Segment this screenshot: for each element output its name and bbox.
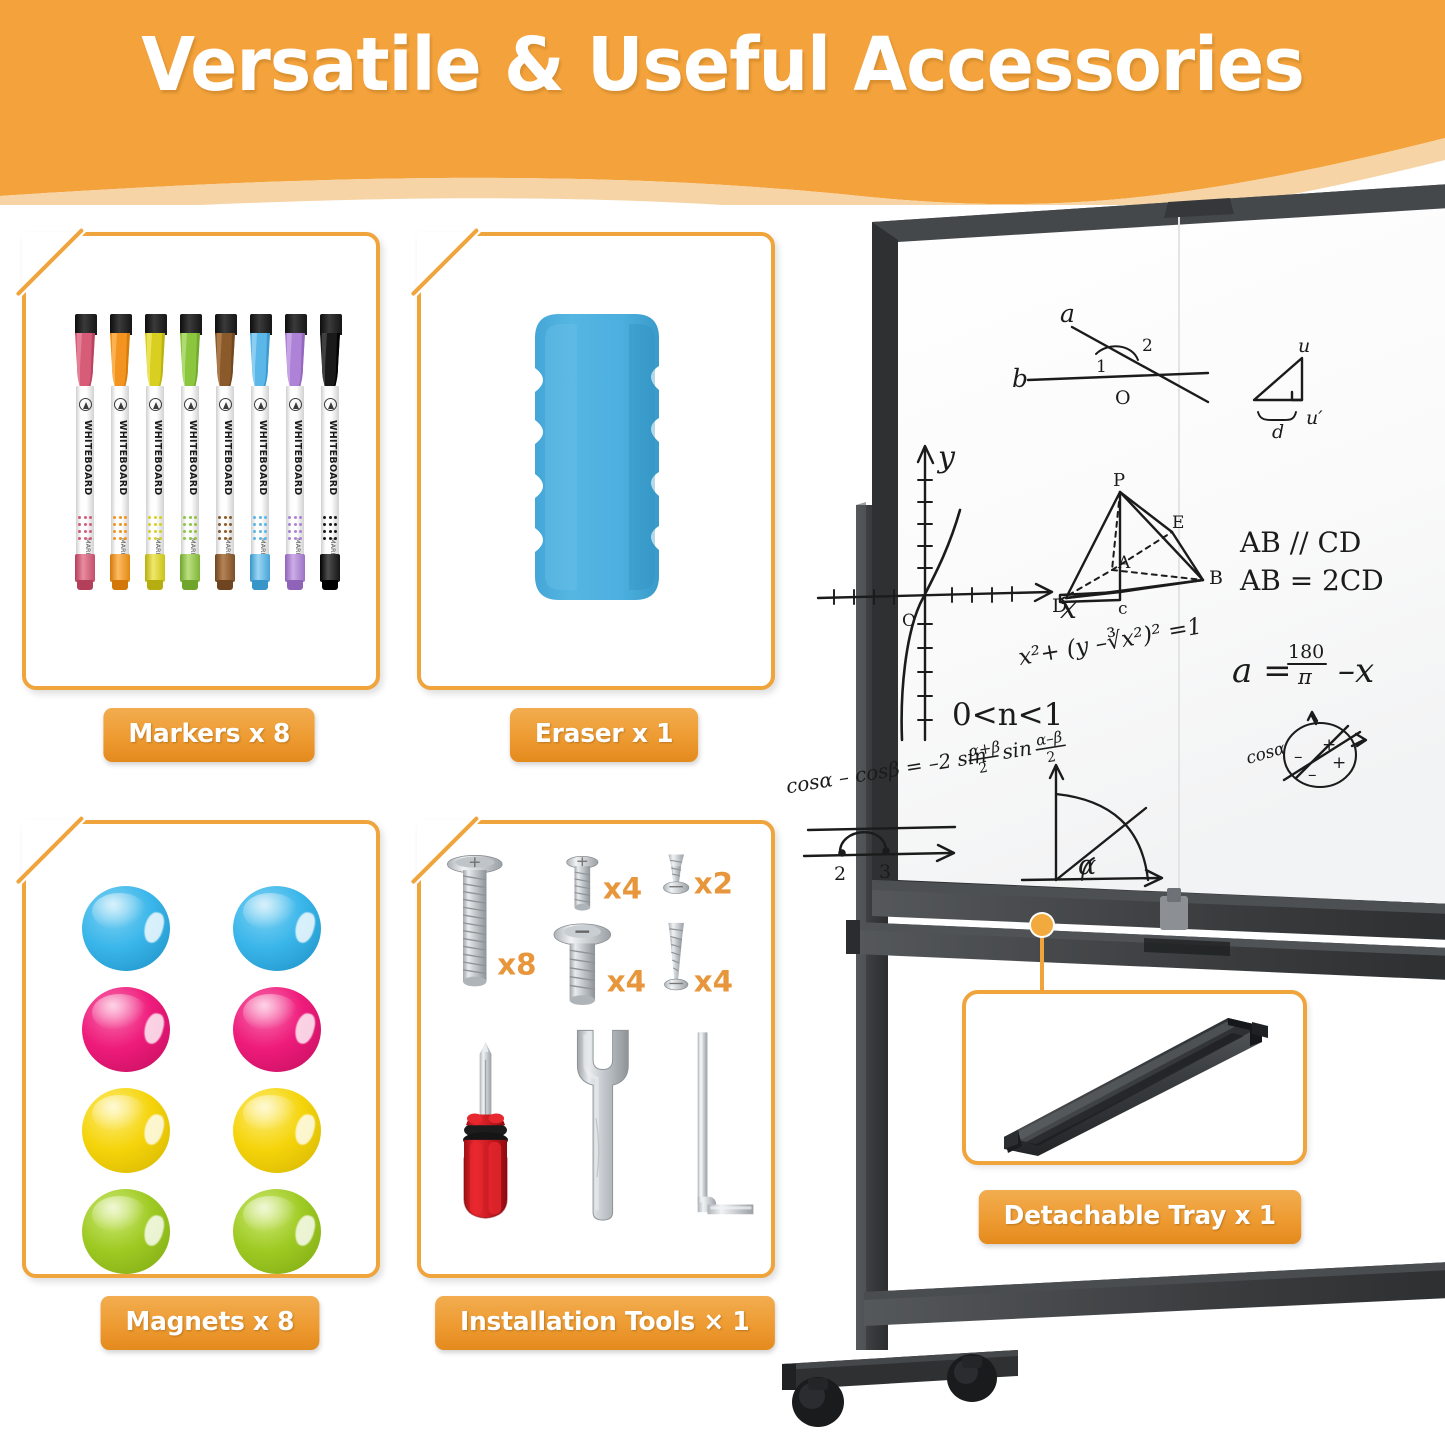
marker-end-cap	[250, 554, 270, 582]
parallel-note-1: AB ∕∕ CD	[1239, 526, 1361, 559]
open-end-wrench-icon	[577, 1030, 628, 1220]
marker-pen-icon: WHITEBOARD MARKER	[72, 314, 344, 594]
marker-end-cap	[110, 554, 130, 582]
marker-tip	[322, 580, 338, 590]
marker-label-body: WHITEBOARD MARKER	[251, 386, 269, 556]
self-tap-screw-icon	[663, 854, 688, 893]
marker-dots	[252, 516, 268, 550]
pink-magnet-1	[82, 987, 170, 1072]
marker-shoulder	[177, 333, 203, 388]
yellow-magnet-1	[82, 1088, 170, 1173]
quadrant-minus-2: –	[1308, 765, 1317, 785]
quadrant-plus-2: +	[1332, 753, 1346, 773]
hex-allen-key-icon	[698, 1032, 754, 1214]
pink-marker: WHITEBOARD MARKER	[72, 314, 98, 594]
marker-tip	[182, 580, 198, 590]
pink-magnet-2	[233, 987, 321, 1072]
orange-marker: WHITEBOARD MARKER	[107, 314, 133, 594]
magnet-dot-icon	[76, 886, 326, 1274]
long-bolt-qty: x8	[497, 948, 536, 982]
marker-dots	[112, 516, 128, 550]
toolbox-icon: x8 x4	[421, 824, 771, 1274]
marker-label-body: WHITEBOARD MARKER	[216, 386, 234, 556]
accessory-cell-markers: WHITEBOARD MARKER	[22, 232, 397, 762]
button-head-bolt-qty: x4	[607, 964, 646, 998]
blue-magnet-2	[233, 886, 321, 971]
marker-dots	[147, 516, 163, 550]
marker-cap	[110, 314, 132, 335]
u-prime-label: u′	[1306, 407, 1323, 429]
caster-wheel-back	[947, 1354, 997, 1402]
marker-label-body: WHITEBOARD MARKER	[321, 386, 339, 556]
marker-label-body: WHITEBOARD MARKER	[286, 386, 304, 556]
mobile-whiteboard: y x O 0<n<1 cosα – cosβ = –2 sin α+β 2 s…	[760, 180, 1445, 1445]
angle-2-label: 2	[1142, 336, 1153, 356]
marker-brand-icon	[79, 398, 92, 411]
axis-y-label: y	[936, 440, 956, 475]
yellow-marker: WHITEBOARD MARKER	[142, 314, 168, 594]
marker-tip	[287, 580, 303, 590]
alpha-symbol: α	[1078, 850, 1096, 881]
marker-dots	[322, 516, 338, 550]
marker-brand-icon	[149, 398, 162, 411]
svg-text:π: π	[1297, 665, 1313, 689]
marker-cap	[180, 314, 202, 335]
accessory-cell-eraser: Eraser x 1	[417, 232, 792, 762]
origin-label: O	[902, 611, 916, 631]
svg-text:–x: –x	[1338, 651, 1374, 691]
number-line-tick-2: 2	[834, 863, 846, 885]
detachable-tray-label: Detachable Tray x 1	[979, 1190, 1301, 1244]
green-magnet-1	[82, 1189, 170, 1274]
angle-1-label: 1	[1096, 357, 1107, 377]
point-p-label: P	[1113, 470, 1125, 491]
point-a-label: A	[1117, 553, 1131, 573]
quadrant-minus-1: –	[1294, 747, 1303, 767]
marker-cap	[285, 314, 307, 335]
blue-marker: WHITEBOARD MARKER	[247, 314, 273, 594]
accessory-cell-tools: x8 x4	[417, 820, 792, 1350]
marker-brand-icon	[324, 398, 337, 411]
markers-label: Markers x 8	[104, 708, 316, 762]
marker-cap	[215, 314, 237, 335]
yellow-magnet-2	[233, 1088, 321, 1173]
marker-end-cap	[145, 554, 165, 582]
marker-end-cap	[285, 554, 305, 582]
markers-card[interactable]: WHITEBOARD MARKER	[22, 232, 380, 690]
marker-label-body: WHITEBOARD MARKER	[76, 386, 94, 556]
d-label: d	[1272, 421, 1284, 443]
angle-o-label: O	[1115, 387, 1131, 409]
svg-text:a =: a =	[1232, 651, 1292, 691]
header-banner: Versatile & Useful Accessories	[0, 0, 1445, 205]
marker-dots	[182, 516, 198, 550]
long-bolt-icon	[447, 855, 502, 986]
marker-brand-icon	[114, 398, 127, 411]
eraser-label: Eraser x 1	[510, 708, 698, 762]
marker-end-cap	[215, 554, 235, 582]
page-title: Versatile & Useful Accessories	[43, 22, 1401, 108]
point-c-label: c	[1118, 599, 1128, 619]
marker-shoulder	[317, 333, 343, 388]
phillips-screwdriver-icon	[463, 1042, 508, 1218]
point-b-label: B	[1209, 567, 1223, 589]
marker-tip	[77, 580, 93, 590]
green-marker: WHITEBOARD MARKER	[177, 314, 203, 594]
tray-bar-icon	[966, 994, 1303, 1161]
black-marker: WHITEBOARD MARKER	[317, 314, 343, 594]
marker-shoulder	[107, 333, 133, 388]
accessories-grid: WHITEBOARD MARKER	[22, 232, 792, 1412]
marker-tip	[147, 580, 163, 590]
marker-tip	[217, 580, 233, 590]
eraser-card[interactable]	[417, 232, 775, 690]
svg-text:180: 180	[1288, 641, 1324, 663]
purple-marker: WHITEBOARD MARKER	[282, 314, 308, 594]
marker-cap	[75, 314, 97, 335]
marker-shoulder	[212, 333, 238, 388]
callout-anchor-dot	[1031, 914, 1053, 936]
marker-end-cap	[320, 554, 340, 582]
brown-marker: WHITEBOARD MARKER	[212, 314, 238, 594]
tools-label: Installation Tools × 1	[435, 1296, 774, 1350]
marker-cap	[320, 314, 342, 335]
line-b-label: b	[1012, 364, 1028, 393]
marker-brand-icon	[184, 398, 197, 411]
marker-dots	[77, 516, 93, 550]
line-a-label: a	[1060, 299, 1075, 328]
marker-dots	[287, 516, 303, 550]
detachable-tray-callout[interactable]	[962, 990, 1307, 1165]
marker-shoulder	[282, 333, 308, 388]
marker-label-body: WHITEBOARD MARKER	[181, 386, 199, 556]
magnets-card[interactable]	[22, 820, 380, 1278]
accessory-cell-magnets: Magnets x 8	[22, 820, 397, 1350]
marker-tip	[252, 580, 268, 590]
point-d-label: D	[1052, 595, 1067, 617]
blue-magnet-1	[82, 886, 170, 971]
self-tap-screw-qty: x2	[694, 867, 733, 901]
marker-label-body: WHITEBOARD MARKER	[146, 386, 164, 556]
marker-shoulder	[142, 333, 168, 388]
marker-tip	[112, 580, 128, 590]
u-label: u	[1298, 335, 1310, 357]
eraser-icon	[511, 308, 681, 608]
short-bolt-icon	[567, 856, 598, 910]
quadrant-plus-1: +	[1322, 735, 1336, 755]
whiteboard-illustration: y x O 0<n<1 cosα – cosβ = –2 sin α+β 2 s…	[760, 180, 1445, 1445]
marker-label-body: WHITEBOARD MARKER	[111, 386, 129, 556]
wood-screw-qty: x4	[694, 964, 733, 998]
marker-brand-icon	[289, 398, 302, 411]
tools-card[interactable]: x8 x4	[417, 820, 775, 1278]
marker-dots	[217, 516, 233, 550]
marker-end-cap	[180, 554, 200, 582]
marker-cap	[250, 314, 272, 335]
svg-text:sin: sin	[1001, 736, 1034, 764]
green-magnet-2	[233, 1189, 321, 1274]
marker-shoulder	[247, 333, 273, 388]
inequality-note: 0<n<1	[952, 697, 1063, 733]
marker-shoulder	[72, 333, 98, 388]
marker-cap	[145, 314, 167, 335]
marker-end-cap	[75, 554, 95, 582]
short-bolt-qty: x4	[603, 871, 642, 905]
number-line-tick-3: 3	[879, 861, 891, 883]
wood-screw-icon	[664, 923, 687, 990]
marker-brand-icon	[254, 398, 267, 411]
point-e-label: E	[1172, 513, 1184, 533]
magnets-label: Magnets x 8	[100, 1296, 319, 1350]
parallel-note-2: AB = 2CD	[1239, 564, 1384, 597]
button-head-bolt-icon	[554, 924, 611, 1005]
caster-wheel-front	[792, 1377, 844, 1427]
marker-brand-icon	[219, 398, 232, 411]
